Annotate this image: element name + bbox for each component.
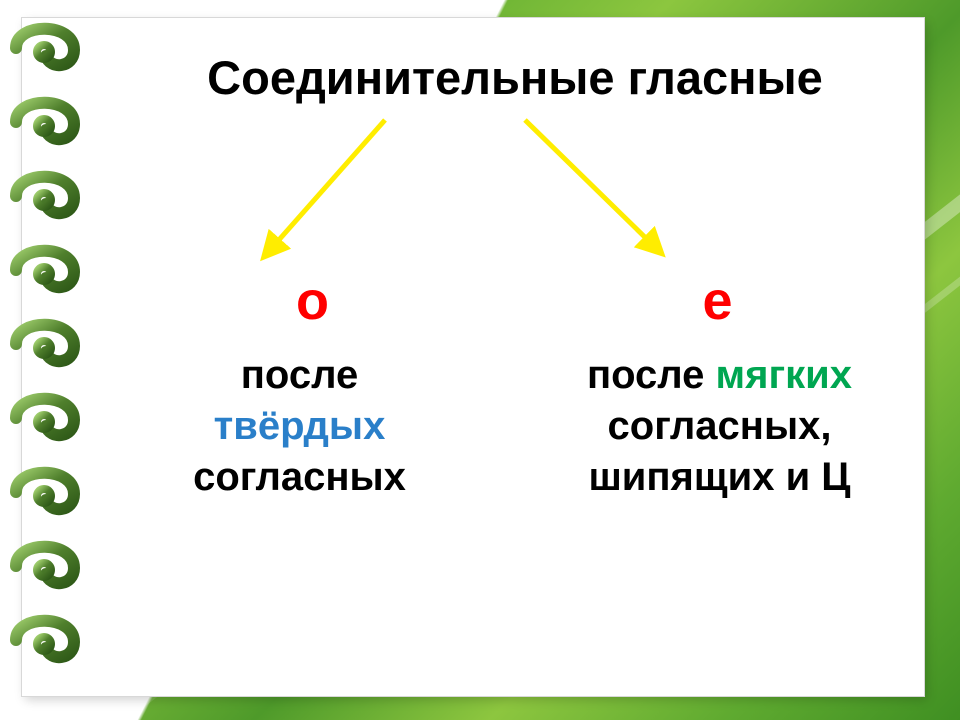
page-title: Соединительные гласные <box>110 50 920 105</box>
column-e-description: после мягких согласных, шипящих и Ц <box>515 350 920 504</box>
desc-text-hard: твёрдых <box>214 404 386 448</box>
column-o-description: после твёрдых согласных <box>110 350 515 504</box>
desc-text: согласных <box>193 455 406 499</box>
desc-line: шипящих и Ц <box>519 452 920 503</box>
slide-root: Соединительные гласные о после твёрдых <box>0 0 960 720</box>
arrow-to-e <box>525 120 655 247</box>
desc-text: после <box>241 353 358 397</box>
desc-line: твёрдых <box>110 401 489 452</box>
desc-line: после <box>110 350 489 401</box>
vowel-o: о <box>110 270 515 332</box>
vowel-e: е <box>515 270 920 332</box>
arrow-to-o <box>270 120 385 250</box>
column-e: е после мягких согласных, шипящих и Ц <box>515 270 920 504</box>
arrow-group <box>110 115 920 280</box>
desc-text: согласных, <box>608 404 832 448</box>
slide-content: Соединительные гласные о после твёрдых <box>110 30 920 680</box>
desc-line: после мягких <box>519 350 920 401</box>
desc-text-soft: мягких <box>716 353 852 397</box>
column-o: о после твёрдых согласных <box>110 270 515 504</box>
desc-line: согласных <box>110 452 489 503</box>
columns-wrapper: о после твёрдых согласных е <box>110 270 920 504</box>
desc-line: согласных, <box>519 401 920 452</box>
desc-text: шипящих и Ц <box>588 455 850 499</box>
desc-text: после <box>587 353 716 397</box>
